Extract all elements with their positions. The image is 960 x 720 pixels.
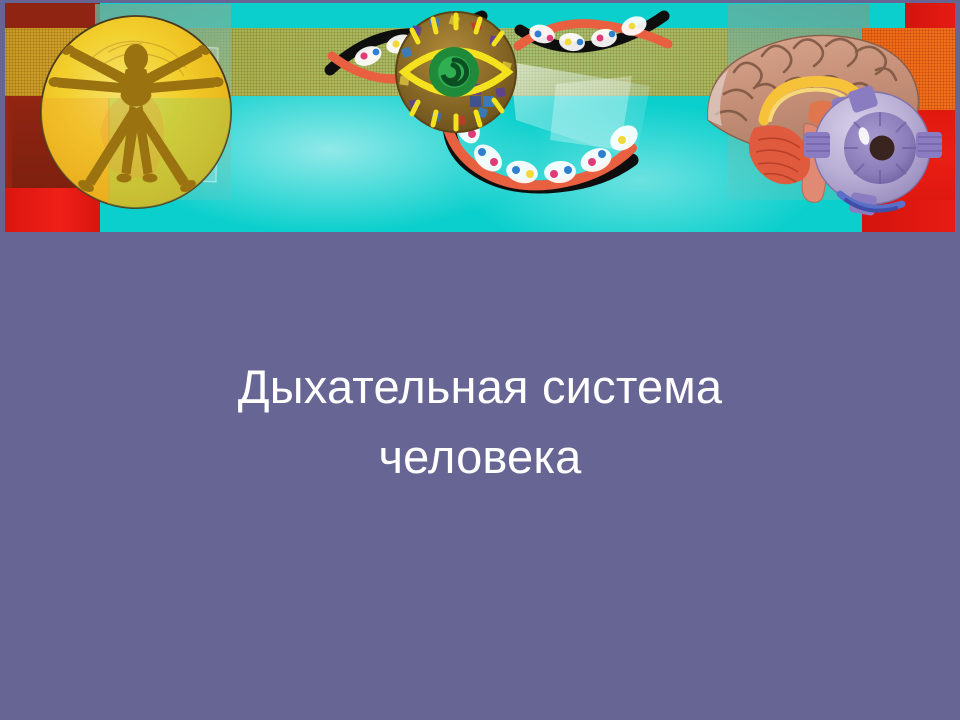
dna-helix-illustration [320, 0, 680, 215]
vitruvian-man-illustration [38, 12, 234, 212]
slide-title-line-2: человека [0, 422, 960, 492]
biology-collage-banner [0, 0, 960, 232]
slide-title-line-1: Дыхательная система [0, 352, 960, 422]
banner-left-edge [0, 0, 5, 232]
banner-right-edge [955, 0, 960, 232]
mosaic-eye-medallion-illustration [396, 12, 516, 132]
brain-anatomy-illustration [700, 8, 955, 218]
banner-top-edge [0, 0, 960, 3]
presentation-slide: Дыхательная система человека [0, 0, 960, 720]
slide-title: Дыхательная система человека [0, 352, 960, 492]
